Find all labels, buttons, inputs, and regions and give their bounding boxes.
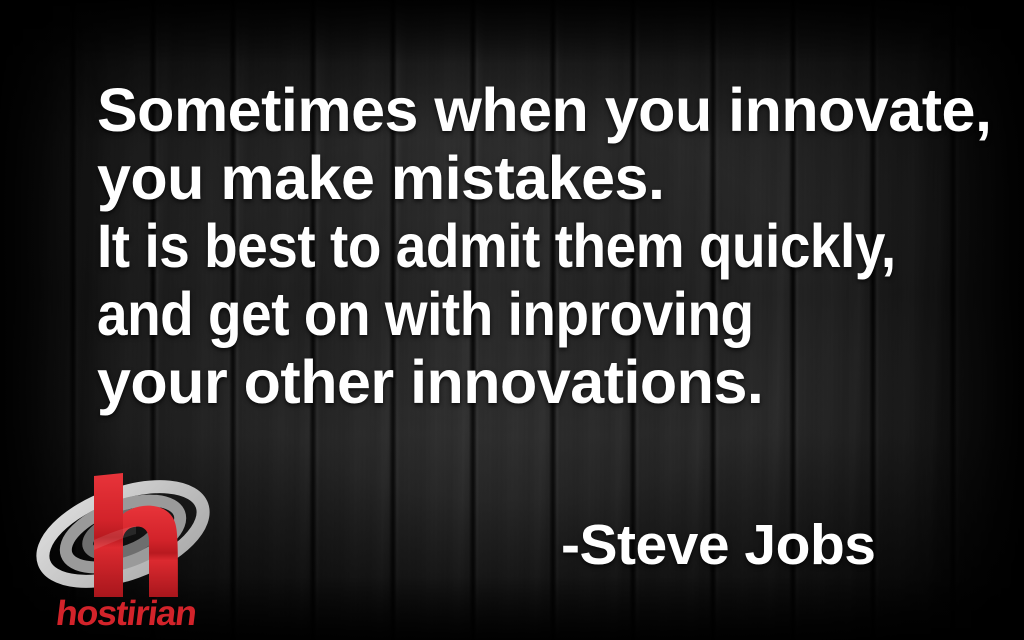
quote-poster: Sometimes when you innovate, you make mi… <box>0 0 1024 640</box>
quote-block: Sometimes when you innovate, you make mi… <box>97 76 1017 416</box>
quote-line-3: It is best to admit them quickly, <box>97 212 925 280</box>
quote-line-5: your other innovations. <box>97 348 1017 416</box>
hostirian-logo[interactable]: hostirian <box>26 462 226 640</box>
quote-line-2: you make mistakes. <box>97 144 1017 212</box>
quote-line-4: and get on with inproving <box>97 280 925 348</box>
quote-attribution: -Steve Jobs <box>561 512 875 578</box>
hostirian-logo-mark-icon <box>26 462 226 602</box>
quote-line-1: Sometimes when you innovate, <box>97 76 1017 144</box>
hostirian-wordmark: hostirian <box>22 594 231 634</box>
